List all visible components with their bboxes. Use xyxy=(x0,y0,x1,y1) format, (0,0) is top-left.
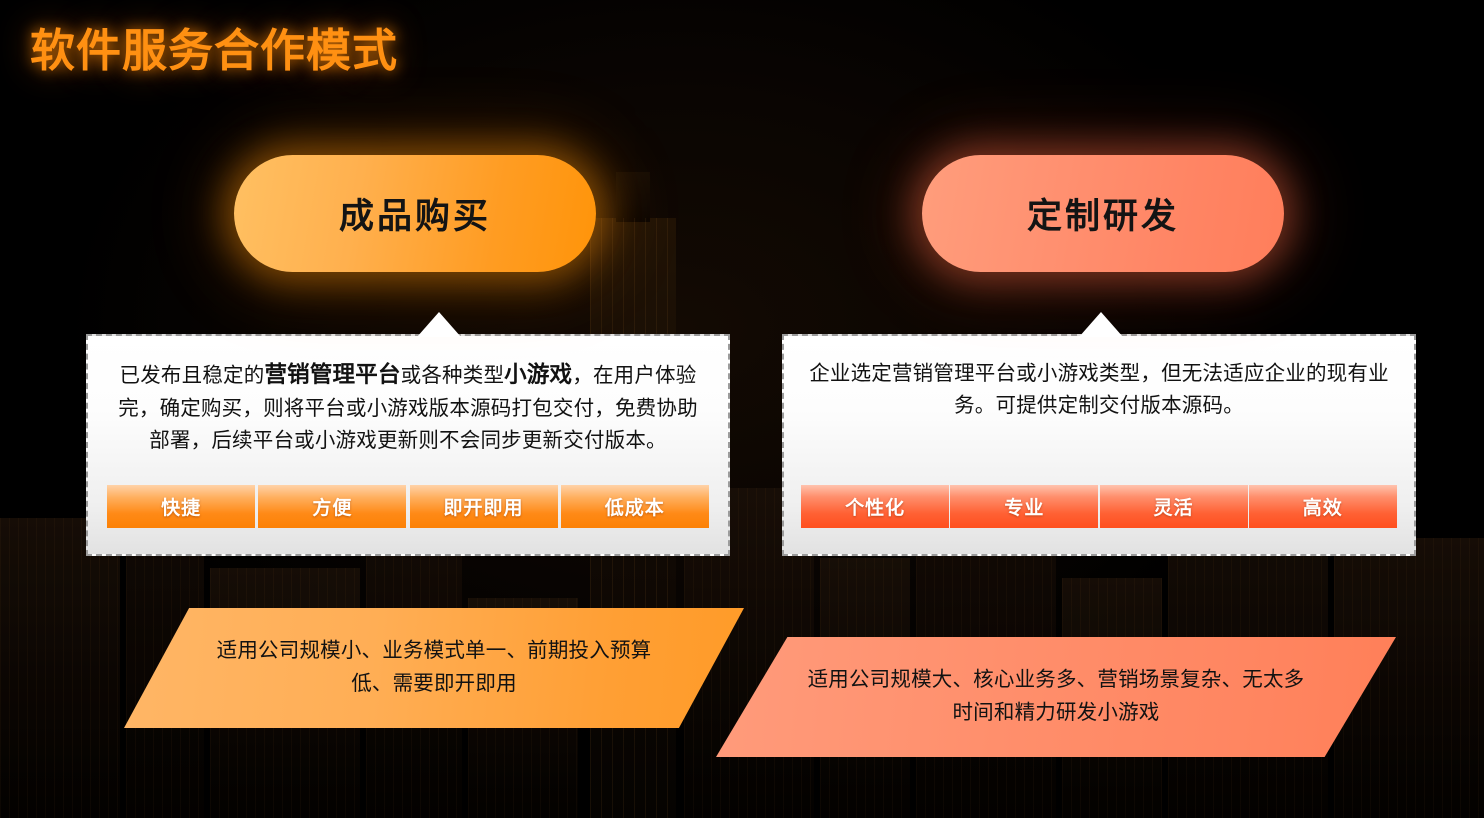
header-pill-finished-product-purchase[interactable]: 成品购买 xyxy=(234,155,596,272)
tag-item[interactable]: 灵活 xyxy=(1100,485,1248,528)
tag-item[interactable]: 低成本 xyxy=(561,485,709,528)
page-title: 软件服务合作模式 xyxy=(30,14,398,79)
use-case-banner-custom-development: 适用公司规模大、核心业务多、营销场景复杂、无太多时间和精力研发小游戏 xyxy=(716,637,1396,757)
use-case-banner-finished-product-purchase: 适用公司规模小、业务模式单一、前期投入预算低、需要即开即用 xyxy=(124,608,744,728)
slide-canvas: 软件服务合作模式 成品购买 已发布且稳定的营销管理平台或各种类型小游戏，在用户体… xyxy=(0,0,1484,818)
use-case-banner-text: 适用公司规模大、核心业务多、营销场景复杂、无太多时间和精力研发小游戏 xyxy=(798,664,1315,730)
header-pill-label: 定制研发 xyxy=(1027,188,1179,239)
tag-list: 个性化 专业 灵活 高效 xyxy=(784,485,1414,528)
card-description: 已发布且稳定的营销管理平台或各种类型小游戏，在用户体验完，确定购买，则将平台或小… xyxy=(88,336,728,456)
tag-item[interactable]: 高效 xyxy=(1249,485,1397,528)
tag-item[interactable]: 方便 xyxy=(258,485,406,528)
tag-item[interactable]: 即开即用 xyxy=(410,485,558,528)
header-pill-label: 成品购买 xyxy=(339,188,491,239)
card-pointer-arrow-icon xyxy=(417,312,461,337)
info-card-custom-development: 企业选定营销管理平台或小游戏类型，但无法适应企业的现有业务。可提供定制交付版本源… xyxy=(782,334,1416,556)
use-case-banner-text: 适用公司规模小、业务模式单一、前期投入预算低、需要即开即用 xyxy=(198,635,669,701)
description-text: 或各种类型 xyxy=(401,364,505,387)
tag-item[interactable]: 专业 xyxy=(950,485,1098,528)
description-emphasis: 小游戏 xyxy=(504,362,572,387)
description-emphasis: 营销管理平台 xyxy=(264,362,400,387)
card-pointer-arrow-icon xyxy=(1079,312,1123,337)
card-description: 企业选定营销管理平台或小游戏类型，但无法适应企业的现有业务。可提供定制交付版本源… xyxy=(784,336,1414,422)
tag-item[interactable]: 个性化 xyxy=(801,485,949,528)
tag-item[interactable]: 快捷 xyxy=(107,485,255,528)
info-card-finished-product-purchase: 已发布且稳定的营销管理平台或各种类型小游戏，在用户体验完，确定购买，则将平台或小… xyxy=(86,334,730,556)
description-text: 企业选定营销管理平台或小游戏类型，但无法适应企业的现有业务。可提供定制交付版本源… xyxy=(809,362,1389,417)
header-pill-custom-development[interactable]: 定制研发 xyxy=(922,155,1284,272)
tag-list: 快捷 方便 即开即用 低成本 xyxy=(88,485,728,528)
description-text: 已发布且稳定的 xyxy=(120,364,265,387)
